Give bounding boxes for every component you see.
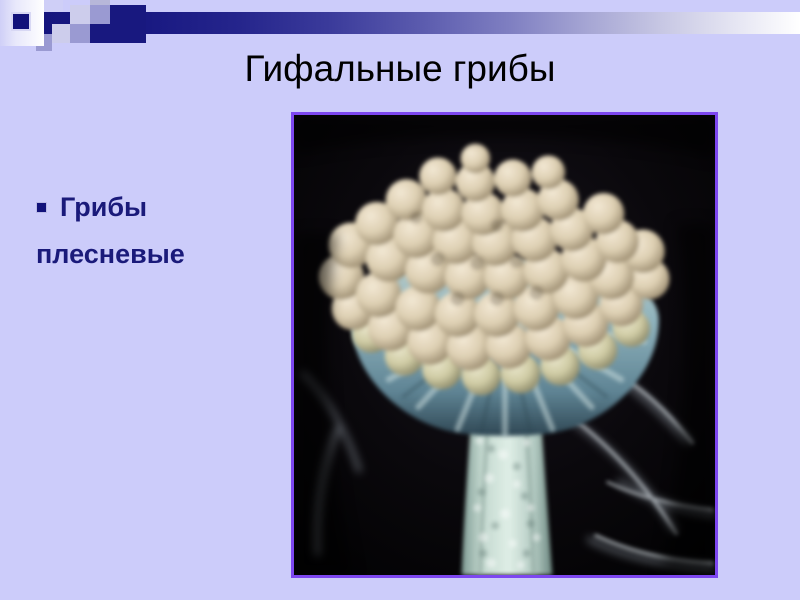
periwinkle-square	[90, 5, 110, 24]
lilac-square	[44, 0, 63, 12]
lightblue-square	[52, 24, 70, 43]
micrograph-illustration	[294, 115, 715, 575]
slide-title: Гифальные грибы	[0, 46, 800, 92]
navy-block-square	[110, 5, 146, 24]
periwinkle-square	[70, 24, 90, 43]
picture-frame	[291, 112, 718, 578]
lightblue-square	[70, 5, 90, 24]
slide: Гифальные грибы Грибы плесневые	[0, 0, 800, 600]
square-bullet-icon	[36, 202, 47, 213]
bullet-list: Грибы плесневые	[36, 184, 286, 278]
navy-small-square	[11, 12, 31, 31]
list-item-label: Грибы плесневые	[36, 192, 185, 269]
list-item: Грибы плесневые	[36, 184, 286, 278]
mold-fungus-micrograph	[294, 115, 715, 575]
header-gradient-bar	[43, 12, 800, 34]
navy-block-square	[90, 24, 146, 43]
